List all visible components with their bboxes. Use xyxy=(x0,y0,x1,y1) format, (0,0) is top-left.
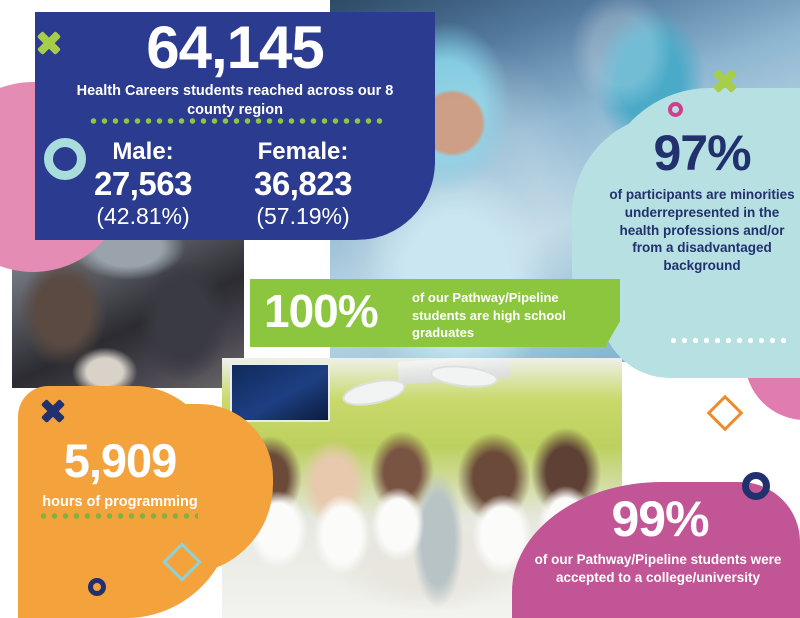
stat-male-group: Male: 27,563 (42.81%) xyxy=(68,138,218,229)
stat-college-label: of our Pathway/Pipeline students were ac… xyxy=(520,551,796,587)
white-dotted-divider xyxy=(668,338,792,343)
stat-male-title: Male: xyxy=(68,138,218,166)
stat-graduates-value: 100% xyxy=(264,288,414,334)
navy-ring-icon xyxy=(88,578,106,596)
magenta-ring-icon xyxy=(668,102,683,117)
stat-female-group: Female: 36,823 (57.19%) xyxy=(228,138,378,229)
infographic-canvas: 64,145 Health Careers students reached a… xyxy=(0,0,800,618)
stat-college-value: 99% xyxy=(540,494,780,544)
stat-male-percent: (42.81%) xyxy=(68,203,218,229)
stat-graduates-label: of our Pathway/Pipeline students are hig… xyxy=(412,289,612,342)
stat-students-reached-label: Health Careers students reached across o… xyxy=(72,82,398,119)
stat-female-percent: (57.19%) xyxy=(228,203,378,229)
green-dotted-divider xyxy=(38,513,198,519)
stat-female-count: 36,823 xyxy=(228,166,378,203)
stat-minorities-value: 97% xyxy=(612,128,792,178)
orange-diamond-icon xyxy=(707,395,744,432)
green-dotted-divider xyxy=(88,118,384,124)
navy-x-icon xyxy=(40,398,66,424)
stat-hours-label: hours of programming xyxy=(24,494,216,511)
green-x-icon xyxy=(712,68,738,94)
stat-minorities-label: of participants are minorities underrepr… xyxy=(604,186,800,275)
stat-male-count: 27,563 xyxy=(68,166,218,203)
stat-female-title: Female: xyxy=(228,138,378,166)
navy-ring-icon xyxy=(742,472,770,500)
stat-hours-value: 5,909 xyxy=(30,437,210,484)
stat-students-reached-value: 64,145 xyxy=(35,18,435,78)
